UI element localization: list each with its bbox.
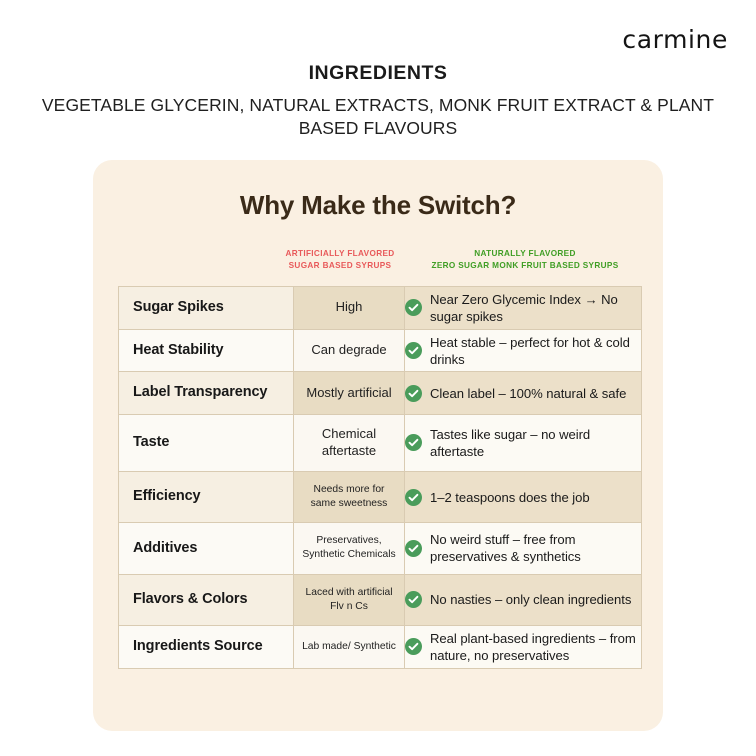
table-row: Label TransparencyMostly artificialClean… (119, 372, 642, 415)
artificial-value: Preservatives, Synthetic Chemicals (294, 523, 404, 573)
artificial-value: Mostly artificial (294, 374, 404, 413)
column-header-natural-line2: ZERO SUGAR MONK FRUIT BASED SYRUPS (431, 261, 618, 270)
column-header-natural-line1: NATURALLY FLAVORED (474, 249, 576, 258)
table-row: Sugar SpikesHighNear Zero Glycemic Index… (119, 287, 642, 330)
ingredients-section: INGREDIENTS VEGETABLE GLYCERIN, NATURAL … (0, 62, 756, 140)
check-circle-icon (405, 591, 422, 608)
natural-value-wrap: 1–2 teaspoons does the job (405, 489, 641, 506)
ingredients-list: VEGETABLE GLYCERIN, NATURAL EXTRACTS, MO… (0, 94, 756, 140)
column-header-natural: NATURALLY FLAVORED ZERO SUGAR MONK FRUIT… (410, 248, 640, 272)
feature-cell: Sugar Spikes (119, 287, 294, 330)
feature-label: Ingredients Source (119, 626, 293, 668)
table-row: Flavors & ColorsLaced with artificial Fl… (119, 574, 642, 625)
artificial-value: Can degrade (294, 331, 404, 370)
check-circle-icon (405, 489, 422, 506)
comparison-table-body: Sugar SpikesHighNear Zero Glycemic Index… (119, 287, 642, 669)
artificial-cell: Preservatives, Synthetic Chemicals (294, 523, 405, 574)
table-row: Ingredients SourceLab made/ SyntheticRea… (119, 626, 642, 669)
feature-cell: Ingredients Source (119, 626, 294, 669)
natural-value-wrap: Clean label – 100% natural & safe (405, 385, 641, 402)
natural-value-wrap: Tastes like sugar – no weird aftertaste (405, 426, 641, 460)
feature-label: Additives (119, 528, 293, 570)
artificial-value: Lab made/ Synthetic (294, 629, 404, 665)
natural-value: Clean label – 100% natural & safe (430, 385, 626, 402)
artificial-cell: Lab made/ Synthetic (294, 626, 405, 669)
feature-label: Flavors & Colors (119, 579, 293, 621)
artificial-cell: Can degrade (294, 329, 405, 372)
comparison-card: Why Make the Switch? ARTIFICIALLY FLAVOR… (93, 160, 663, 731)
check-circle-icon (405, 385, 422, 402)
natural-value-wrap: Near Zero Glycemic Index → No sugar spik… (405, 291, 641, 325)
artificial-cell: Mostly artificial (294, 372, 405, 415)
natural-cell: Real plant-based ingredients – from natu… (405, 626, 642, 669)
natural-value: Tastes like sugar – no weird aftertaste (430, 426, 641, 460)
artificial-value: High (294, 288, 404, 327)
natural-value: 1–2 teaspoons does the job (430, 489, 590, 506)
natural-value: Near Zero Glycemic Index → No sugar spik… (430, 291, 641, 325)
artificial-cell: Laced with artificial Flv n Cs (294, 574, 405, 625)
natural-value: Real plant-based ingredients – from natu… (430, 630, 641, 664)
natural-value: Heat stable – perfect for hot & cold dri… (430, 334, 641, 368)
natural-value: No weird stuff – free from preservatives… (430, 531, 641, 565)
natural-cell: Near Zero Glycemic Index → No sugar spik… (405, 287, 642, 330)
table-row: EfficiencyNeeds more for same sweetness1… (119, 471, 642, 522)
feature-label: Taste (119, 422, 293, 464)
ingredients-heading: INGREDIENTS (0, 62, 756, 85)
brand-logo: carmine (622, 27, 728, 52)
feature-cell: Label Transparency (119, 372, 294, 415)
feature-label: Heat Stability (119, 330, 293, 372)
check-circle-icon (405, 299, 422, 316)
natural-cell: No weird stuff – free from preservatives… (405, 523, 642, 574)
feature-cell: Flavors & Colors (119, 574, 294, 625)
column-header-artificial-line1: ARTIFICIALLY FLAVORED (285, 249, 394, 258)
check-circle-icon (405, 638, 422, 655)
natural-cell: Tastes like sugar – no weird aftertaste (405, 415, 642, 472)
feature-label: Sugar Spikes (119, 287, 293, 329)
natural-value: No nasties – only clean ingredients (430, 591, 631, 608)
natural-value-wrap: Heat stable – perfect for hot & cold dri… (405, 334, 641, 368)
column-headers: ARTIFICIALLY FLAVORED SUGAR BASED SYRUPS… (118, 248, 638, 282)
natural-value-wrap: No weird stuff – free from preservatives… (405, 531, 641, 565)
feature-cell: Heat Stability (119, 329, 294, 372)
feature-cell: Additives (119, 523, 294, 574)
check-circle-icon (405, 540, 422, 557)
feature-cell: Efficiency (119, 471, 294, 522)
natural-value-wrap: Real plant-based ingredients – from natu… (405, 630, 641, 664)
natural-cell: No nasties – only clean ingredients (405, 574, 642, 625)
check-circle-icon (405, 342, 422, 359)
comparison-table: Sugar SpikesHighNear Zero Glycemic Index… (118, 286, 642, 669)
table-row: AdditivesPreservatives, Synthetic Chemic… (119, 523, 642, 574)
natural-cell: 1–2 teaspoons does the job (405, 471, 642, 522)
artificial-cell: Needs more for same sweetness (294, 471, 405, 522)
card-title: Why Make the Switch? (93, 190, 663, 221)
artificial-value: Laced with artificial Flv n Cs (294, 575, 404, 625)
artificial-cell: Chemical aftertaste (294, 415, 405, 472)
natural-cell: Heat stable – perfect for hot & cold dri… (405, 329, 642, 372)
artificial-cell: High (294, 287, 405, 330)
column-header-artificial-line2: SUGAR BASED SYRUPS (289, 261, 392, 270)
feature-label: Label Transparency (119, 372, 293, 414)
artificial-value: Chemical aftertaste (294, 415, 404, 471)
natural-cell: Clean label – 100% natural & safe (405, 372, 642, 415)
column-header-artificial: ARTIFICIALLY FLAVORED SUGAR BASED SYRUPS (270, 248, 410, 272)
feature-cell: Taste (119, 415, 294, 472)
check-circle-icon (405, 434, 422, 451)
artificial-value: Needs more for same sweetness (294, 472, 404, 522)
table-row: Heat StabilityCan degradeHeat stable – p… (119, 329, 642, 372)
feature-label: Efficiency (119, 476, 293, 518)
natural-value-wrap: No nasties – only clean ingredients (405, 591, 641, 608)
table-row: TasteChemical aftertasteTastes like suga… (119, 415, 642, 472)
